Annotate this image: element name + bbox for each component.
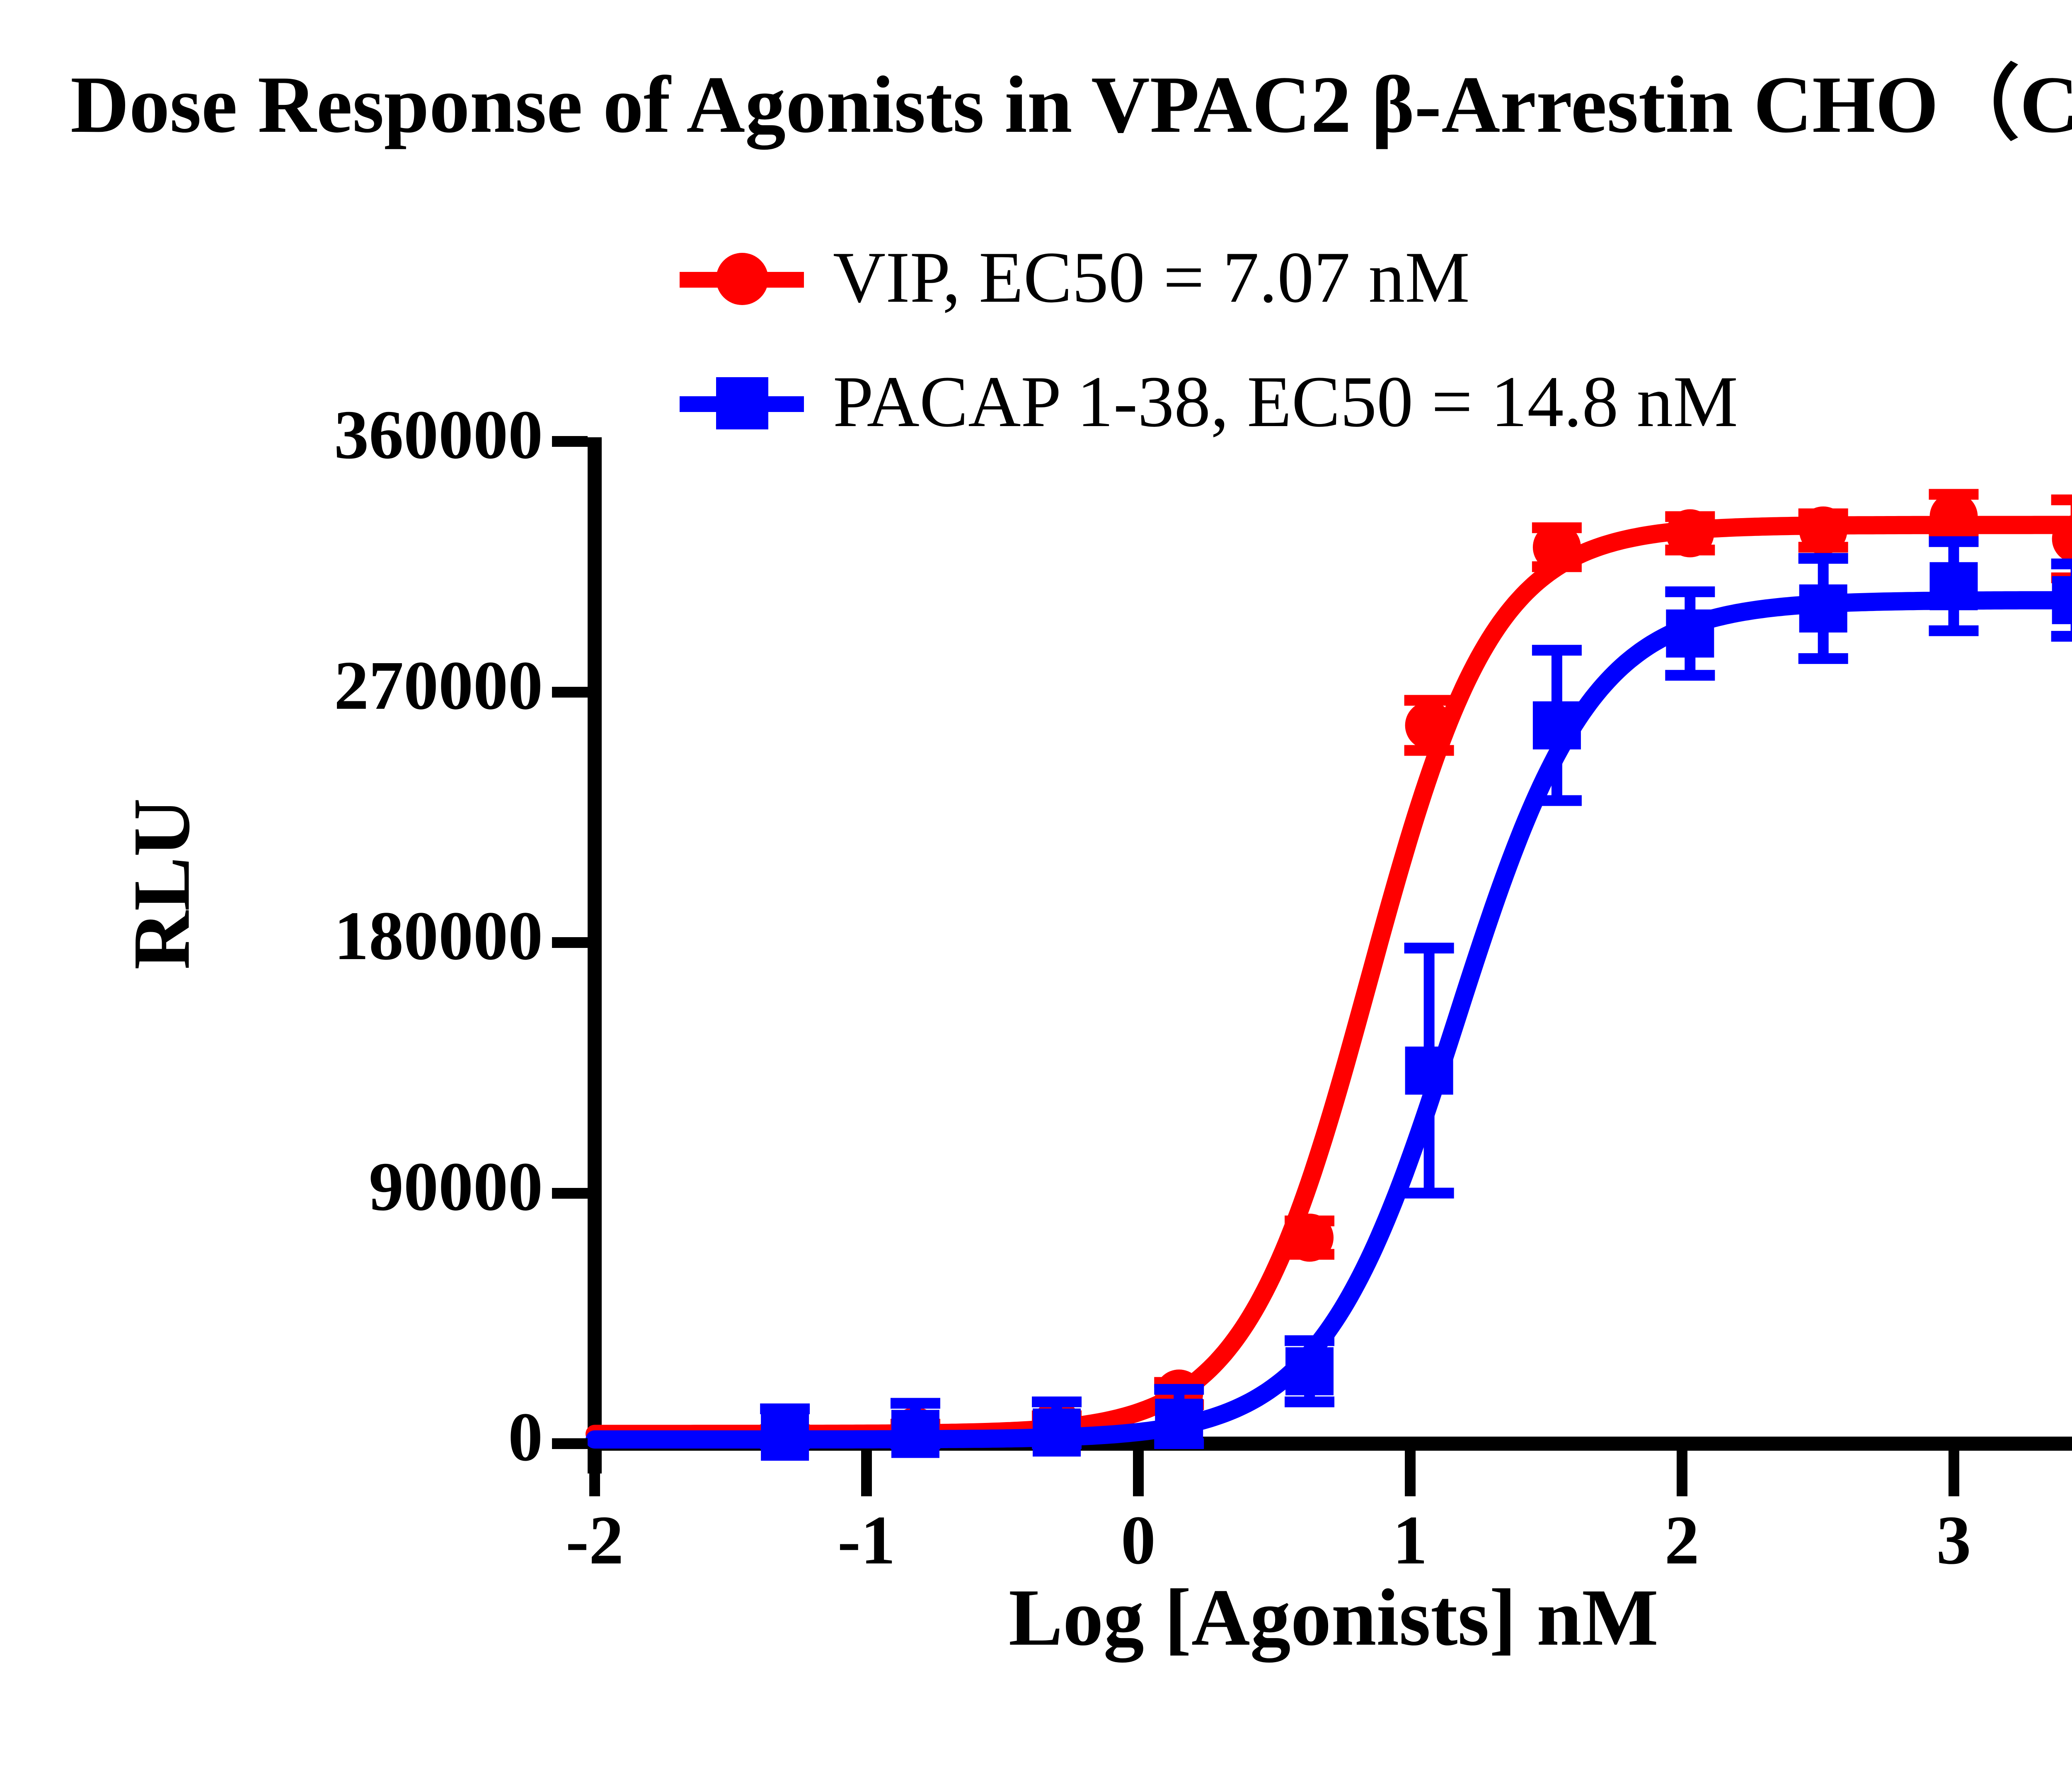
x-tick-mark [1133,1451,1144,1496]
data-point-marker [1666,609,1714,657]
x-tick-mark [1405,1451,1416,1496]
data-point-marker [1799,507,1847,555]
x-tick-mark [589,1451,600,1496]
y-tick-mark [552,436,588,447]
plot-area: RLU Log [Agonists] nM 090000180000270000… [0,0,2072,1774]
data-point-marker [761,1413,809,1461]
data-point-marker [1285,1347,1334,1395]
y-tick-mark [552,1438,588,1449]
x-tick-mark [1677,1451,1687,1496]
x-tick-mark [861,1451,872,1496]
x-tick-label: 0 [1076,1500,1201,1580]
data-point-marker [1533,701,1581,749]
x-tick-label: 3 [1892,1500,2016,1580]
data-point-marker [2052,576,2072,624]
x-tick-label: 1 [1348,1500,1472,1580]
y-tick-mark [552,937,588,948]
x-tick-label: 2 [1620,1500,1744,1580]
data-point-marker [1285,1214,1334,1262]
data-point-marker [1799,584,1847,633]
x-tick-label: -1 [804,1500,929,1580]
data-point-marker [1405,701,1453,749]
y-tick-label: 90000 [178,1147,543,1227]
y-tick-label: 180000 [178,896,543,976]
figure-root: Dose Response of Agonists in VPAC2 β-Arr… [0,0,2072,1774]
y-tick-label: 0 [178,1397,543,1477]
x-tick-mark [1949,1451,1959,1496]
data-layer [0,0,2072,1774]
data-point-marker [1405,1047,1453,1095]
data-point-marker [891,1410,939,1458]
y-tick-label: 270000 [178,646,543,726]
data-point-marker [1155,1399,1203,1447]
y-tick-label: 360000 [178,395,543,475]
data-point-marker [1930,562,1978,610]
data-point-marker [1666,509,1714,557]
y-tick-mark [552,1188,588,1199]
data-point-marker [1033,1408,1081,1457]
data-point-marker [1930,492,1978,540]
fit-curve-pacap-1-38 [595,600,2068,1440]
x-tick-label: -2 [533,1500,657,1580]
y-tick-mark [552,687,588,698]
data-point-marker [1533,523,1581,571]
